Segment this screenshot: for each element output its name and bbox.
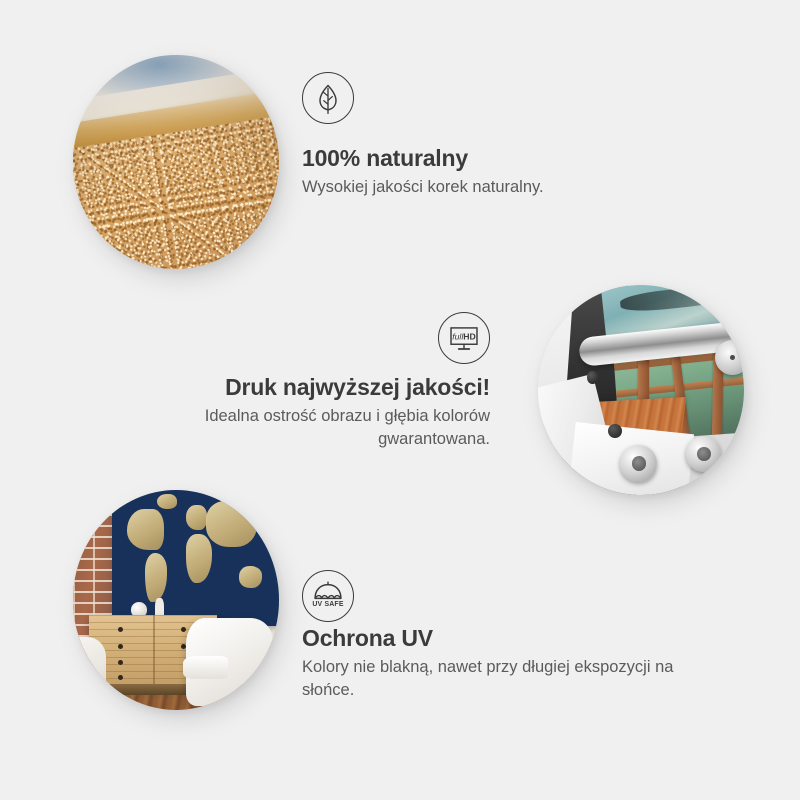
fullhd-icon-label-hd: HD [463, 331, 475, 341]
map-europe [186, 505, 208, 530]
cork-closeup-photo [73, 55, 279, 269]
uv-safe-umbrella-icon: UV SAFE [302, 570, 354, 622]
cork-photo-vignette [73, 55, 279, 269]
feature-print-text: Druk najwyższej jakości! Idealna ostrość… [130, 374, 490, 450]
feature-natural-title: 100% naturalny [302, 145, 702, 171]
dresser-knob [118, 675, 123, 680]
map-south-america [145, 553, 167, 602]
feature-natural-text: 100% naturalny Wysokiej jakości korek na… [302, 145, 702, 199]
dresser-knob [118, 660, 123, 665]
dresser-knob [118, 627, 123, 632]
leaf-icon [302, 72, 354, 124]
printing-machine-photo [538, 285, 744, 495]
armchair-arm [183, 656, 228, 679]
room-photo-armchair-right [186, 618, 273, 706]
feature-uv-text: Ochrona UV Kolory nie blakną, nawet przy… [302, 625, 722, 701]
dresser-split [153, 615, 155, 685]
uv-safe-icon-label: UV SAFE [312, 601, 343, 608]
feature-print-description: Idealna ostrość obrazu i głębia kolorów … [130, 405, 490, 450]
map-north-america [127, 509, 164, 550]
feature-uv-title: Ochrona UV [302, 625, 722, 651]
fullhd-monitor-icon: full HD [438, 312, 490, 364]
map-australia [239, 566, 262, 588]
feature-panel: 100% naturalny Wysokiej jakości korek na… [0, 0, 800, 800]
printer-photo-wheel-2 [686, 436, 721, 472]
feature-natural-description: Wysokiej jakości korek naturalny. [302, 176, 702, 198]
map-africa [186, 534, 213, 583]
feature-uv-description: Kolory nie blakną, nawet przy długiej ek… [302, 656, 722, 701]
room-world-map-photo [73, 490, 279, 710]
room-photo-armchair-left [73, 637, 106, 703]
dresser-knob [118, 644, 123, 649]
map-greenland [157, 494, 177, 509]
printer-photo-roller-cap [715, 340, 744, 376]
map-asia [206, 501, 258, 547]
printer-photo-knob-2 [587, 371, 597, 384]
feature-print-title: Druk najwyższej jakości! [130, 374, 490, 400]
dresser-knob [181, 627, 186, 632]
